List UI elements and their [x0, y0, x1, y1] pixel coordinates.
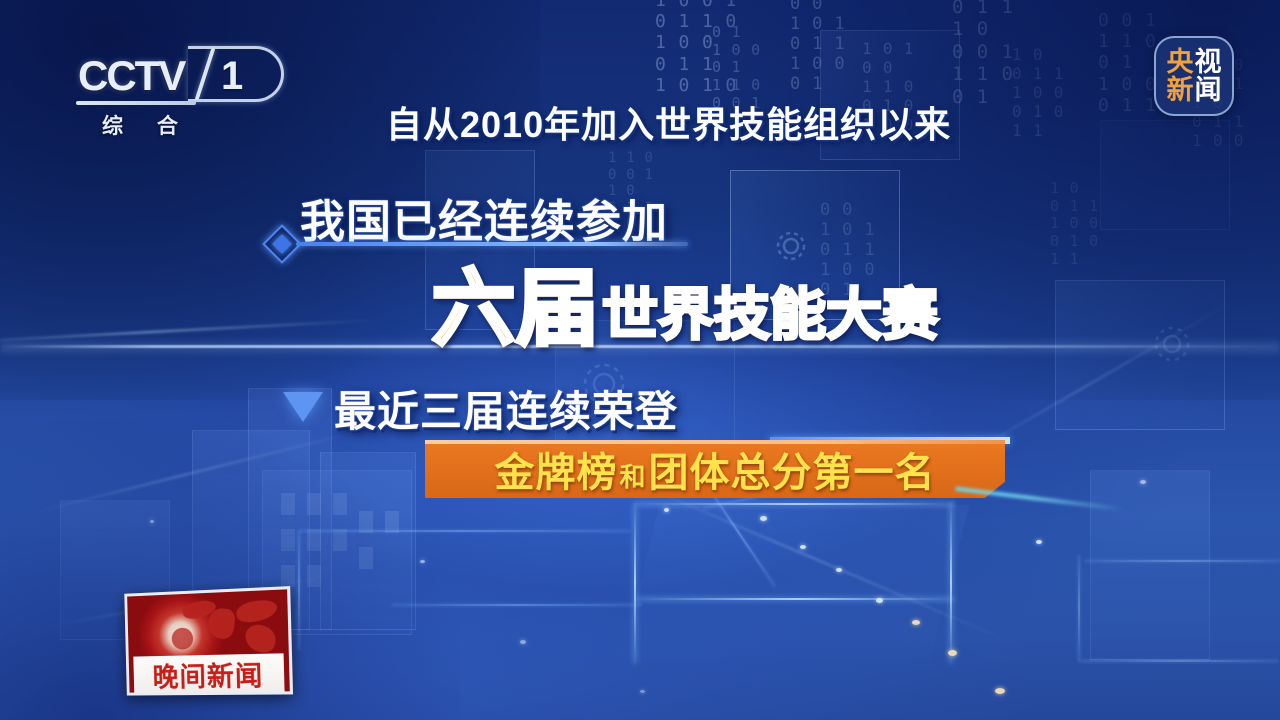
particle — [800, 545, 806, 549]
particle — [1036, 540, 1042, 544]
particle — [912, 620, 920, 625]
banner-conjunction: 和 — [617, 457, 648, 494]
badge-char-xin: 新 — [1167, 77, 1194, 104]
program-logo: 晚间新闻 — [124, 586, 293, 695]
headline-line-1: 自从2010年加入世界技能组织以来 — [386, 96, 951, 148]
particle — [664, 508, 669, 512]
particle — [760, 516, 767, 521]
badge-char-yang: 央 — [1167, 49, 1194, 76]
diamond-bullet-icon — [268, 230, 296, 258]
particle — [948, 650, 957, 656]
triangle-bullet-icon — [283, 392, 323, 422]
badge-char-wen: 闻 — [1195, 77, 1222, 104]
headline-line-3: 六届 世界技能大赛 — [432, 268, 938, 349]
cctv-channel-number: 1 — [221, 54, 243, 99]
badge-row-bottom: 新 闻 — [1167, 77, 1222, 104]
cctv-channel-subtitle: 综 合 — [102, 110, 192, 140]
headline-orange-banner: 金牌榜 和 团体总分第一名 — [425, 440, 1005, 498]
background-building — [1090, 470, 1210, 660]
headline-event-name: 世界技能大赛 — [602, 287, 938, 349]
headline-rule — [296, 242, 688, 246]
particle — [420, 560, 425, 563]
particle — [1140, 480, 1146, 484]
particle — [520, 640, 526, 644]
headline-highlight-count: 六届 — [432, 268, 600, 349]
headline-line-4: 最近三届连续荣登 — [334, 378, 678, 439]
particle — [150, 520, 154, 523]
broadcast-stage: 1 0 0 1 0 1 1 0 1 0 0 0 1 1 1 0 1 0 0 1 … — [0, 0, 1280, 720]
banner-text-group: 金牌榜 和 团体总分第一名 — [494, 440, 935, 498]
particle — [640, 690, 645, 693]
particle — [995, 688, 1005, 694]
headline-line-2: 我国已经连续参加 — [300, 185, 668, 250]
badge-char-shi: 视 — [1195, 49, 1222, 76]
particle — [836, 568, 842, 572]
program-logo-band: 晚间新闻 — [133, 653, 284, 693]
program-title: 晚间新闻 — [152, 653, 264, 694]
globe-icon — [127, 589, 289, 660]
cctv-logo-underbar — [76, 101, 196, 105]
cctv-channel-logo: CCTV 1 综 合 — [78, 52, 278, 132]
cctv-wordmark: CCTV — [78, 52, 184, 100]
badge-row-top: 央 视 — [1167, 49, 1222, 76]
cctv-news-badge[interactable]: 央 视 新 闻 — [1154, 36, 1234, 116]
banner-medal-rank: 金牌榜 — [494, 440, 617, 498]
particle — [876, 598, 883, 603]
banner-team-rank: 团体总分第一名 — [649, 440, 936, 498]
